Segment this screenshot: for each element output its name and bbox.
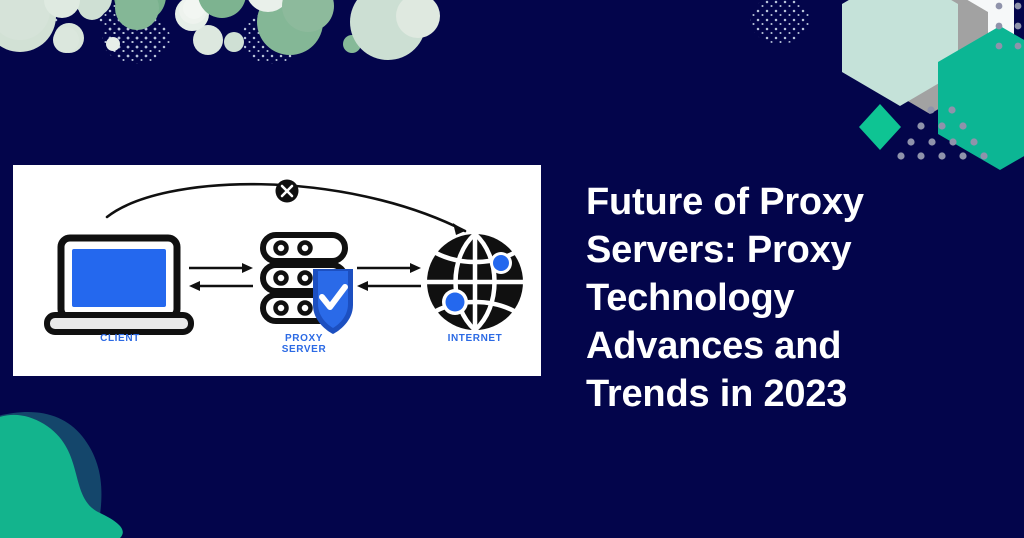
decor-circle-16 bbox=[343, 35, 361, 53]
speckle-cluster-h bbox=[242, 12, 302, 64]
speckle-cluster-g bbox=[102, 12, 170, 64]
node-label-client: CLIENT bbox=[75, 333, 165, 344]
decor-circle-18 bbox=[246, 0, 290, 12]
decor-circle-9 bbox=[193, 25, 223, 55]
illustration-card: CLIENT PROXY SERVER INTERNET bbox=[13, 165, 541, 376]
arrow-right-icon-client-proxy bbox=[189, 263, 253, 273]
page-title-line-2: Servers: Proxy bbox=[586, 226, 996, 274]
decor-circle-11 bbox=[179, 0, 207, 24]
arrow-right-icon-proxy-internet bbox=[357, 263, 421, 273]
laptop-icon bbox=[47, 238, 191, 332]
dot-column-right bbox=[996, 3, 1022, 50]
page-title: Future of Proxy Servers: Proxy Technolog… bbox=[586, 178, 996, 418]
decor-circle-21 bbox=[44, 0, 80, 18]
hex-teal bbox=[938, 26, 1024, 170]
x-circle-icon bbox=[276, 180, 299, 203]
shield-check-icon bbox=[313, 269, 353, 334]
diamond-teal bbox=[859, 104, 901, 150]
decor-circle-8 bbox=[115, 0, 159, 30]
decor-circle-1 bbox=[0, 0, 56, 52]
decor-circle-12 bbox=[183, 0, 205, 19]
decor-circle-4 bbox=[74, 0, 112, 17]
hex-white bbox=[890, 0, 1014, 98]
decor-circle-23 bbox=[396, 0, 440, 38]
page-title-line-5: Trends in 2023 bbox=[586, 370, 996, 418]
decor-circle-7 bbox=[117, 0, 153, 28]
speckle-cluster-d bbox=[107, 20, 159, 60]
speckle-cluster-f bbox=[268, 2, 312, 38]
node-label-proxy-line-1: PROXY bbox=[259, 333, 349, 344]
decor-circle-14 bbox=[257, 0, 323, 55]
decor-circle-3 bbox=[83, 0, 105, 15]
node-label-internet: INTERNET bbox=[430, 333, 520, 344]
decor-circle-24 bbox=[282, 0, 334, 32]
page-title-line-4: Advances and bbox=[586, 322, 996, 370]
arrow-left-icon-proxy-client bbox=[189, 281, 253, 291]
globe-icon bbox=[427, 234, 523, 330]
node-label-proxy-server: PROXY SERVER bbox=[259, 333, 349, 355]
decor-circle-22 bbox=[106, 37, 120, 51]
speckle-cluster-c bbox=[114, 24, 154, 52]
blob-teal bbox=[0, 415, 123, 538]
decor-circle-6 bbox=[54, 23, 84, 53]
page-title-line-3: Technology bbox=[586, 274, 996, 322]
speckle-cluster-b bbox=[98, 0, 154, 38]
decor-circle-5 bbox=[114, 0, 166, 22]
decor-circle-2 bbox=[78, 0, 106, 20]
decor-circle-20 bbox=[0, 0, 50, 40]
decor-circle-15 bbox=[224, 32, 244, 52]
hex-gray bbox=[872, 0, 988, 114]
speckle-cluster-a bbox=[0, 0, 60, 40]
dot-grid-right bbox=[897, 106, 987, 159]
banner: CLIENT PROXY SERVER INTERNET Future of P… bbox=[0, 0, 1024, 538]
decor-circle-19 bbox=[53, 27, 79, 53]
speckle-cluster-e bbox=[106, 10, 166, 58]
blob-shadow bbox=[0, 412, 101, 538]
node-label-proxy-line-2: SERVER bbox=[259, 344, 349, 355]
hex-mint bbox=[842, 0, 958, 106]
arrow-left-icon-internet-proxy bbox=[357, 281, 421, 291]
decor-circle-13 bbox=[198, 0, 246, 18]
speckle-cluster-i bbox=[750, 0, 810, 44]
page-title-line-1: Future of Proxy bbox=[586, 178, 996, 226]
decor-circle-17 bbox=[350, 0, 426, 60]
decor-circle-10 bbox=[175, 0, 209, 31]
